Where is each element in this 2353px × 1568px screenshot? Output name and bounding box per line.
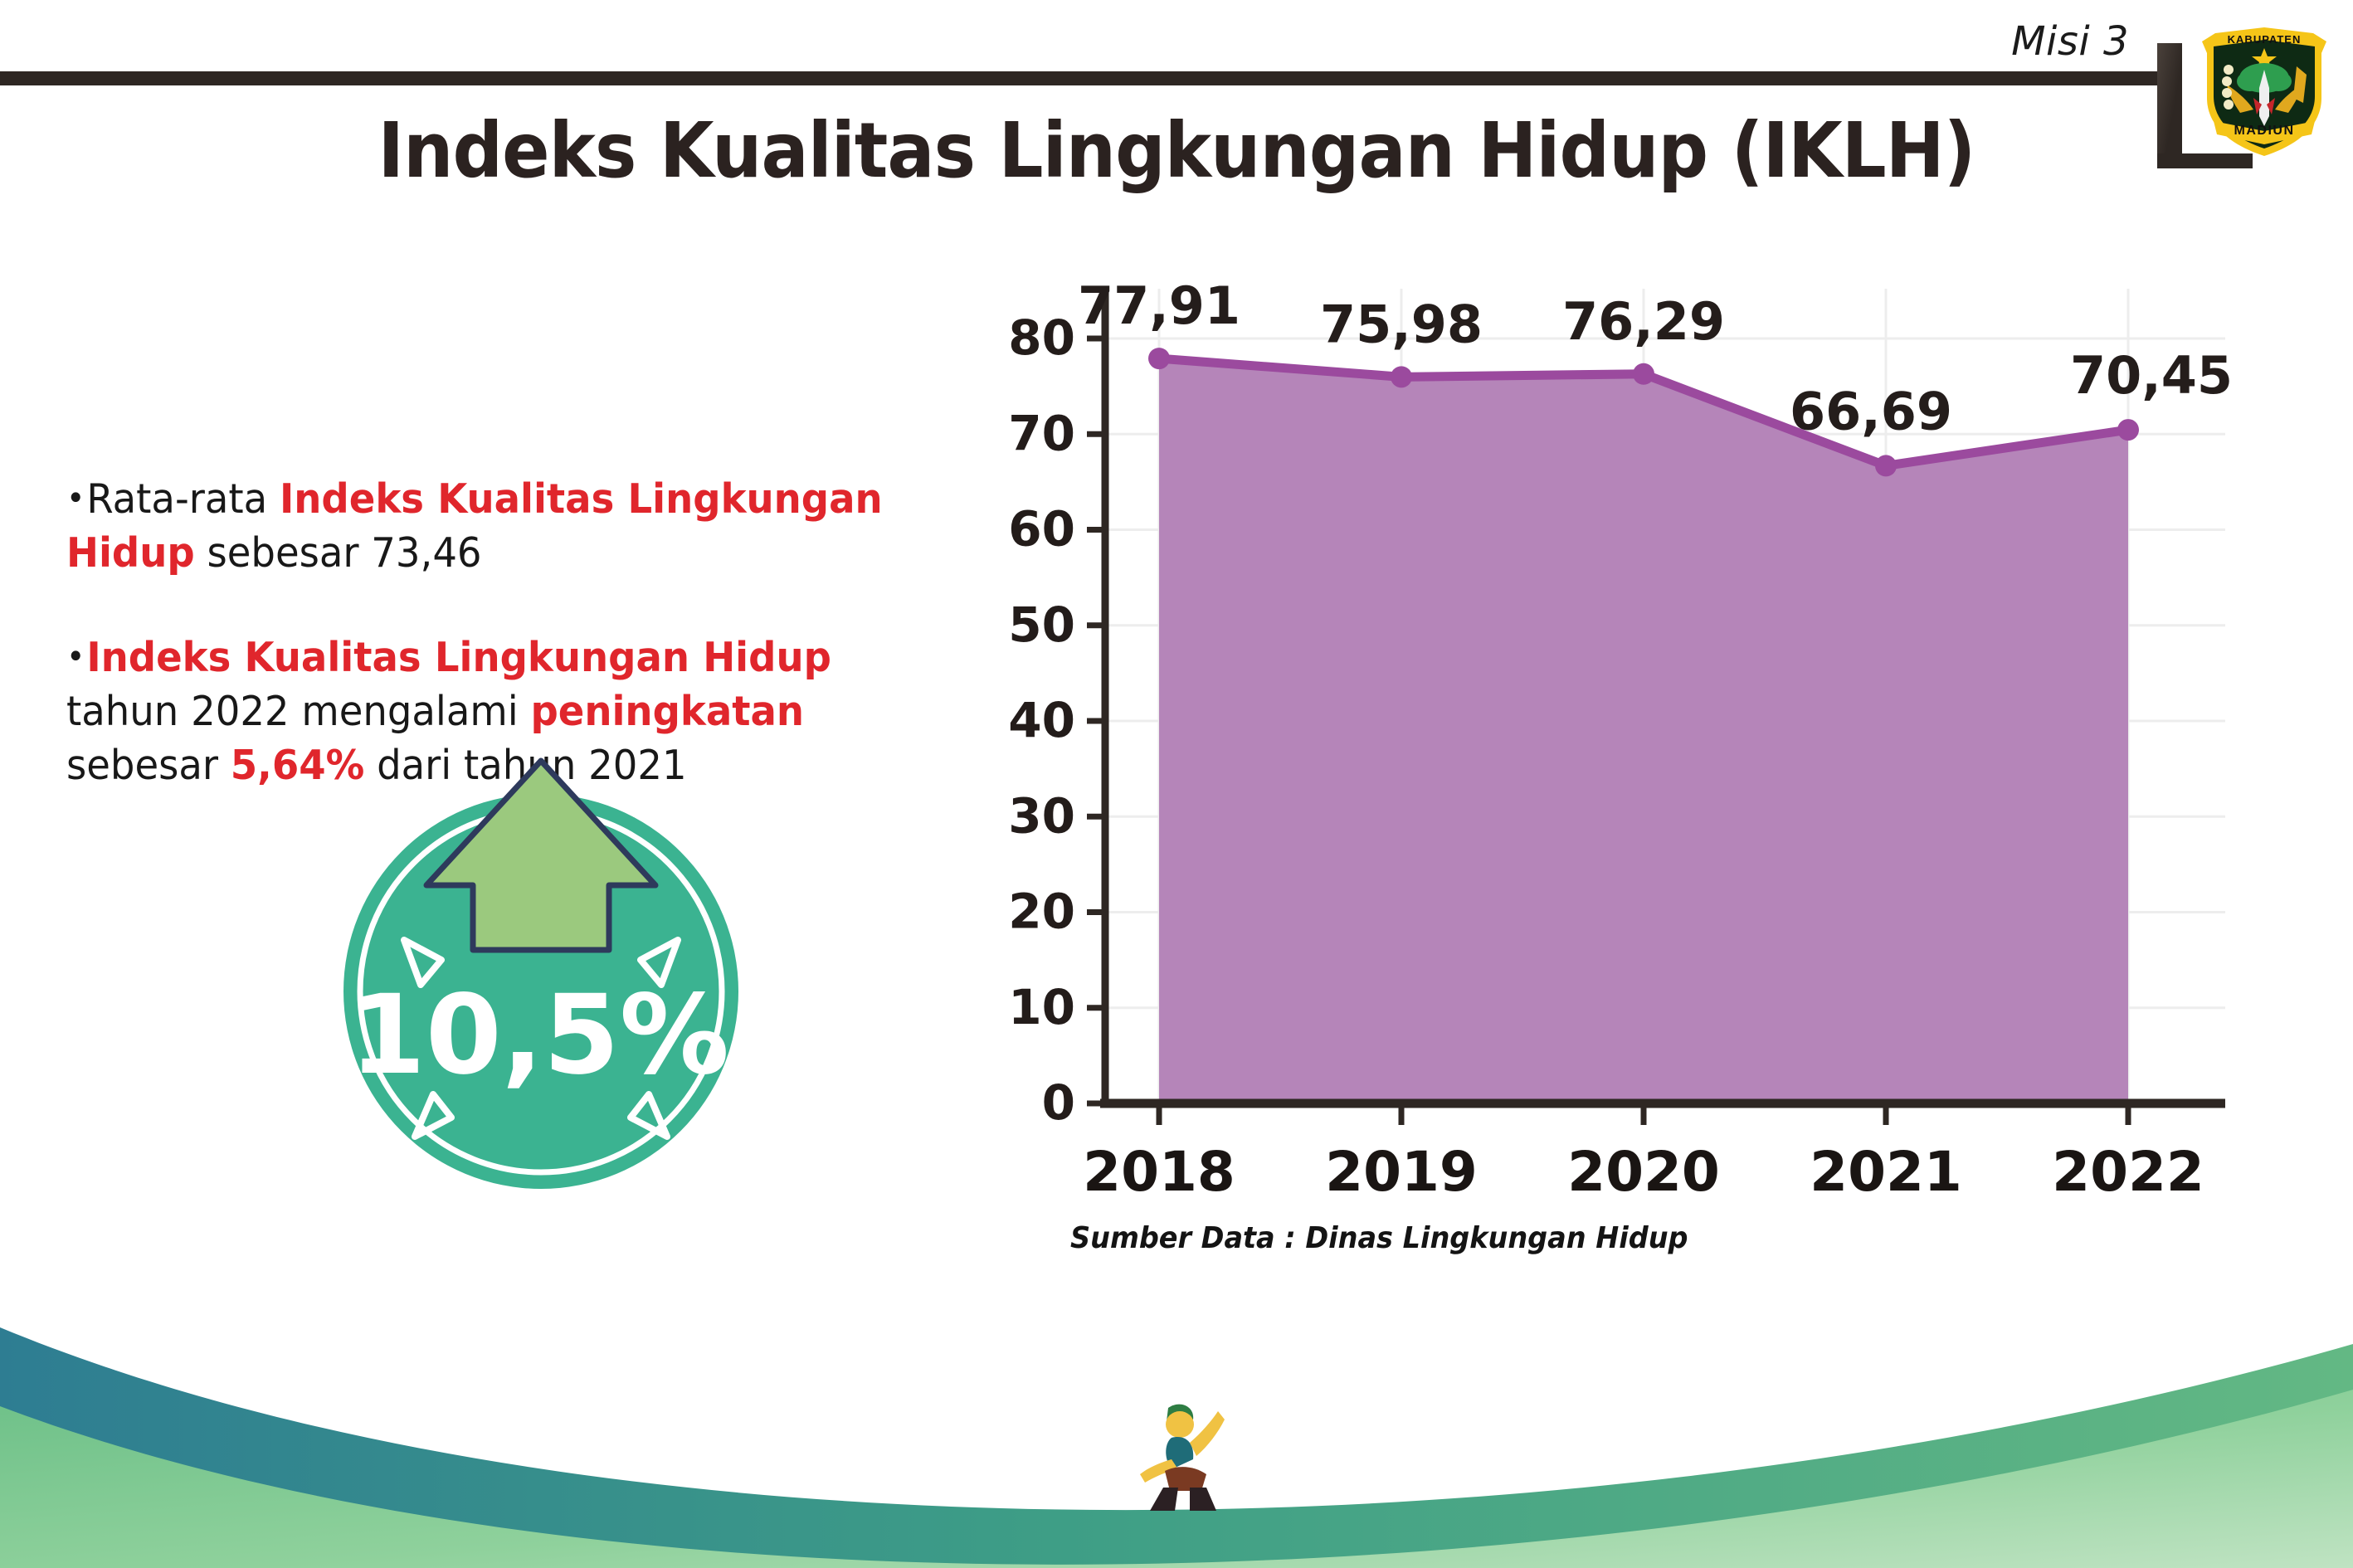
chart-area-fill <box>1159 358 2128 1103</box>
bullet-2-segment-2: tahun 2022 mengalami <box>66 688 530 735</box>
chart-x-tick-label: 2022 <box>2052 1140 2204 1203</box>
chart-value-label: 76,29 <box>1562 291 1725 352</box>
chart-data-point <box>1148 348 1170 369</box>
chart-value-label: 77,91 <box>1078 275 1240 336</box>
iklh-area-chart: 01020304050607080 20182019202020212022 7… <box>979 274 2232 1203</box>
chart-y-tick-label: 70 <box>1008 405 1075 461</box>
chart-data-point <box>1633 363 1654 385</box>
chart-y-tick-label: 0 <box>1042 1074 1075 1131</box>
chart-y-tick-label: 10 <box>1008 979 1075 1035</box>
chart-value-label: 75,98 <box>1320 294 1483 354</box>
misi-label: Misi 3 <box>2011 18 2129 65</box>
bullet-2-segment-3: peningkatan <box>530 688 804 735</box>
chart-y-tick-label: 20 <box>1008 884 1075 940</box>
badge-value: 10,5% <box>349 971 729 1099</box>
chart-y-tick-label: 80 <box>1008 309 1075 366</box>
chart-value-label: 66,69 <box>1790 381 1952 441</box>
chart-x-ticks: 20182019202020212022 <box>1083 1103 2204 1203</box>
chart-data-point <box>2117 419 2139 441</box>
chart-x-tick-label: 2019 <box>1325 1140 1478 1203</box>
svg-text:KABUPATEN: KABUPATEN <box>2228 33 2302 46</box>
chart-y-tick-label: 30 <box>1008 787 1075 844</box>
bullet-2-segment-1: Indeks Kualitas Lingkungan Hidup <box>86 634 831 681</box>
chart-source-caption: Sumber Data : Dinas Lingkungan Hidup <box>1070 1221 1688 1255</box>
bullet-1-segment-3: sebesar 73,46 <box>195 529 482 577</box>
chart-data-point <box>1391 366 1412 387</box>
chart-x-tick-label: 2020 <box>1567 1140 1720 1203</box>
chart-y-tick-label: 60 <box>1008 501 1075 558</box>
chart-y-tick-label: 50 <box>1008 597 1075 653</box>
chart-x-tick-label: 2021 <box>1810 1140 1962 1203</box>
chart-data-point <box>1875 455 1897 476</box>
bullet-1-segment-1: Rata-rata <box>86 475 280 523</box>
page-title: Indeks Kualitas Lingkungan Hidup (IKLH) <box>94 106 2258 195</box>
bullet-dot: • <box>66 638 85 676</box>
increase-badge: 10,5% <box>325 743 757 1195</box>
header-rule <box>0 71 2157 85</box>
dongkrek-dancer-icon <box>1138 1401 1230 1513</box>
chart-value-label: 70,45 <box>2070 345 2232 406</box>
chart-y-ticks: 01020304050607080 <box>1008 309 1105 1131</box>
bullet-item-1: •Rata-rata Indeks Kualitas Lingkungan Hi… <box>66 473 902 580</box>
chart-y-tick-label: 40 <box>1008 692 1075 748</box>
chart-x-tick-label: 2018 <box>1083 1140 1235 1203</box>
bullet-2-segment-4: sebesar <box>66 742 231 789</box>
bullet-1-text: Rata-rata Indeks Kualitas Lingkungan Hid… <box>66 475 883 577</box>
bullet-dot: • <box>66 480 85 518</box>
